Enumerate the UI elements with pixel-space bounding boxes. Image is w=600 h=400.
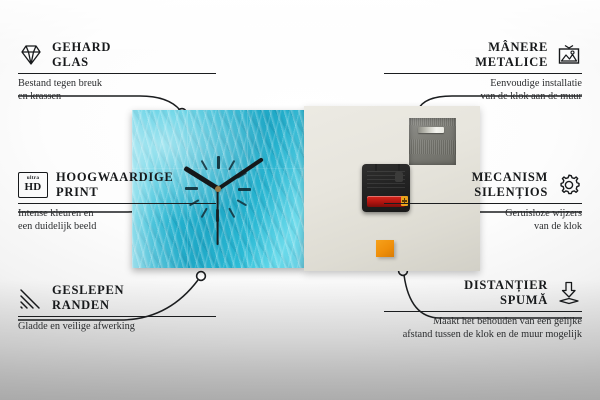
callout-geslepen-randen: GESLEPEN RANDEN Gladde en veilige afwerk…: [18, 283, 216, 334]
callout-title: GESLEPEN RANDEN: [52, 283, 124, 312]
gear-icon: [556, 172, 582, 198]
metal-hanger-plate: [409, 118, 456, 165]
diamond-icon: [18, 42, 44, 68]
picture-frame-icon: [556, 42, 582, 68]
orange-foam-spacer: [376, 240, 394, 257]
callout-description: Bestand tegen breuk en krassen: [18, 78, 216, 103]
callout-description: Geruisloze wijzers van de klok: [384, 208, 582, 233]
callout-rule: [384, 311, 582, 312]
callout-description: Eenvoudige installatie van de klok aan d…: [384, 78, 582, 103]
callout-head: MÂNERE METALICE: [384, 40, 582, 69]
hanger-slot: [418, 127, 444, 133]
infographic-canvas: GEHARD GLAS Bestand tegen breuk en krass…: [0, 0, 600, 400]
callout-gehard-glas: GEHARD GLAS Bestand tegen breuk en krass…: [18, 40, 216, 104]
callout-head: GESLEPEN RANDEN: [18, 283, 216, 312]
callout-title: GEHARD GLAS: [52, 40, 111, 69]
clock-second-hand: [217, 189, 219, 245]
spacer-arrow-icon: [556, 280, 582, 306]
callout-distantier-spuma: DISTANȚIER SPUMĂ Maakt het behouden van …: [384, 278, 582, 342]
callout-description: Intense kleuren en een duidelijk beeld: [18, 208, 216, 233]
callout-title: HOOGWAARDIGE PRINT: [56, 170, 173, 199]
callout-rule: [384, 73, 582, 74]
callout-rule: [18, 316, 216, 317]
callout-mecanism-silentios: MECANISM SILENȚIOS Geruisloze wijzers va…: [384, 170, 582, 234]
callout-head: MECANISM SILENȚIOS: [384, 170, 582, 199]
beveled-edge-icon: [18, 285, 44, 311]
callout-description: Gladde en veilige afwerking: [18, 321, 216, 334]
callout-head: ultra HD HOOGWAARDIGE PRINT: [18, 170, 216, 199]
leader-dot-edges: [197, 272, 206, 281]
callout-title: MÂNERE METALICE: [475, 40, 548, 69]
callout-rule: [18, 203, 216, 204]
callout-title: MECANISM SILENȚIOS: [472, 170, 548, 199]
callout-manere-metalice: MÂNERE METALICE Eenvoudige installatie v…: [384, 40, 582, 104]
callout-head: GEHARD GLAS: [18, 40, 216, 69]
callout-rule: [384, 203, 582, 204]
callout-title: DISTANȚIER SPUMĂ: [464, 278, 548, 307]
callout-head: DISTANȚIER SPUMĂ: [384, 278, 582, 307]
callout-description: Maakt het behouden van een gelijke afsta…: [376, 316, 582, 341]
ultra-hd-icon: ultra HD: [18, 172, 48, 198]
callout-rule: [18, 73, 216, 74]
callout-hoogwaardige-print: ultra HD HOOGWAARDIGE PRINT Intense kleu…: [18, 170, 216, 234]
